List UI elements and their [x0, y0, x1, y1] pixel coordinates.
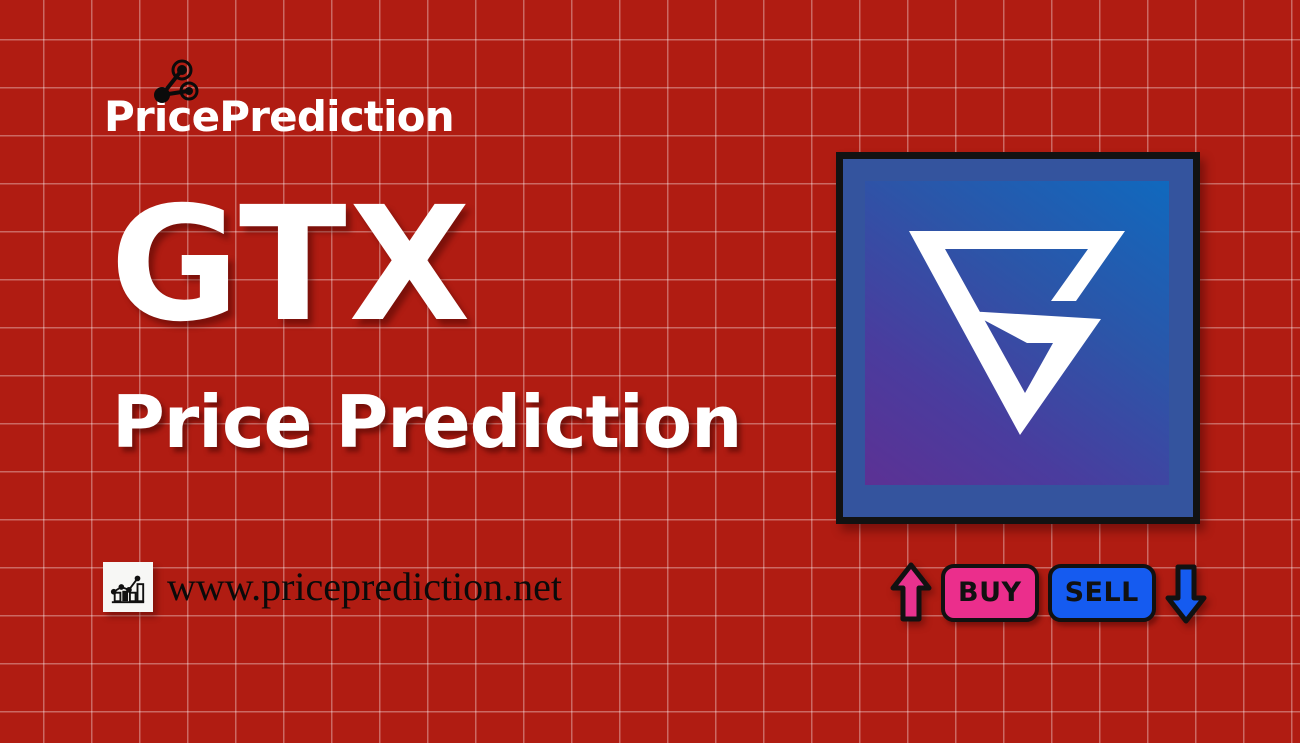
buy-button[interactable]: BUY — [941, 564, 1039, 622]
coin-logo — [836, 152, 1200, 524]
arrow-up-icon[interactable] — [890, 562, 932, 624]
page-subtitle: Price Prediction — [112, 386, 741, 458]
network-nodes-icon — [150, 58, 200, 106]
site-url[interactable]: www.priceprediction.net — [167, 567, 562, 607]
bar-chart-icon — [103, 562, 153, 612]
coin-logo-border — [843, 159, 1193, 517]
gtx-triangle-logo-icon — [901, 225, 1133, 441]
coin-logo-gradient — [865, 181, 1169, 485]
arrow-down-icon[interactable] — [1165, 562, 1207, 624]
footer: www.priceprediction.net — [103, 562, 562, 612]
action-bar: BUY SELL — [890, 562, 1207, 624]
price-prediction-banner: PricePrediction GTX Price Prediction www… — [0, 0, 1300, 743]
sell-button[interactable]: SELL — [1048, 564, 1156, 622]
page-title: GTX — [110, 186, 473, 344]
brand-logo: PricePrediction — [104, 96, 454, 138]
